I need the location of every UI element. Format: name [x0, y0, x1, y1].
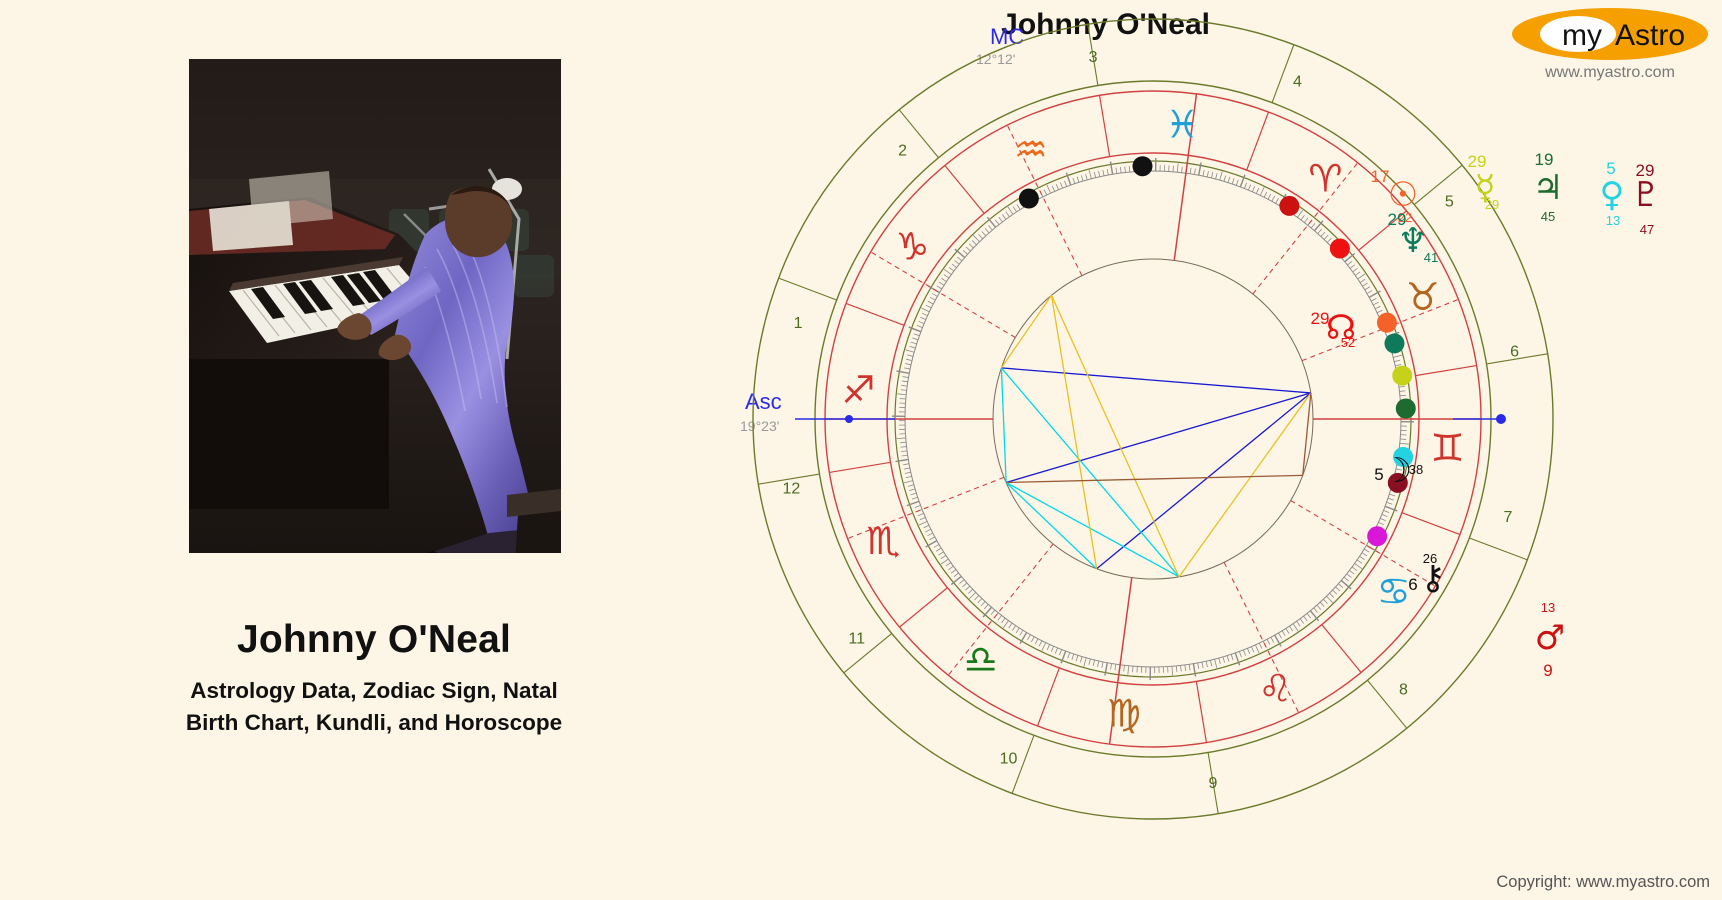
planet-degree-venus: 5 [1606, 159, 1615, 178]
sign-glyph-pisces[interactable]: ♓ [1165, 102, 1199, 146]
planet-minute-neptune: 41 [1424, 250, 1438, 265]
sign-glyph-cancer[interactable]: ♋ [1377, 569, 1411, 613]
sign-glyph-libra[interactable]: ♎ [964, 638, 998, 682]
planet-degree-mercury: 29 [1468, 152, 1487, 171]
planet-minute-pluto: 47 [1640, 222, 1654, 237]
planet-minute-chiron: 26 [1423, 551, 1437, 566]
house-number-3: 3 [1089, 49, 1098, 66]
planet-glyph-jupiter: ♃ [1533, 168, 1563, 208]
planet-minute-mars: 13 [1541, 600, 1555, 615]
planet-minute-venus: 13 [1606, 213, 1620, 228]
page-subtitle: Astrology Data, Zodiac Sign, Natal Birth… [0, 675, 748, 739]
astrology-profile-page: Johnny O'Neal Astrology Data, Zodiac Sig… [0, 0, 1722, 900]
sign-glyph-leo[interactable]: ♌ [1258, 667, 1292, 711]
portrait-photo [189, 59, 561, 553]
planet-moon[interactable]: ☽538 [1019, 189, 1423, 491]
house-number-9: 9 [1209, 775, 1218, 792]
planet-glyph-pluto: ♇ [1631, 175, 1661, 215]
planet-degree-pluto: 29 [1636, 161, 1655, 180]
aspect-lines [1001, 295, 1310, 577]
profile-panel: Johnny O'Neal Astrology Data, Zodiac Sig… [0, 0, 748, 900]
planet-degree-sun: 17 [1371, 167, 1390, 186]
house-number-1: 1 [794, 315, 803, 332]
sign-glyph-taurus[interactable]: ♉ [1406, 275, 1440, 319]
planet-minute-moon: 38 [1409, 462, 1423, 477]
sign-glyph-virgo[interactable]: ♍ [1107, 692, 1141, 736]
portrait-image [189, 59, 561, 553]
sign-glyph-capricorn[interactable]: ♑ [895, 225, 929, 269]
sign-glyph-aries[interactable]: ♈ [1308, 156, 1342, 200]
sign-glyph-scorpio[interactable]: ♏ [866, 519, 900, 563]
planet-degree-moon: 5 [1374, 465, 1383, 484]
house-number-2: 2 [898, 142, 907, 159]
planet-degree-jupiter: 19 [1535, 150, 1554, 169]
planet-minute-mercury: 29 [1485, 197, 1499, 212]
page-title: Johnny O'Neal [0, 618, 748, 662]
planet-minute-node: 52 [1341, 335, 1355, 350]
house-number-11: 11 [848, 630, 865, 647]
planet-uranus[interactable]: ♅631 [1367, 215, 1680, 546]
house-cusp-lines [825, 94, 1481, 744]
sign-glyph-sagittarius[interactable]: ♐ [841, 368, 875, 412]
house-number-6: 6 [1510, 344, 1519, 361]
planet-minute-jupiter: 45 [1541, 209, 1555, 224]
house-number-4: 4 [1293, 74, 1302, 91]
planet-degree-node: 29 [1311, 309, 1330, 328]
sign-glyph-gemini[interactable]: ♊ [1431, 426, 1465, 470]
house-number-10: 10 [1000, 750, 1018, 767]
house-number-12: 12 [782, 480, 800, 497]
planet-degree-neptune: 29 [1388, 210, 1407, 229]
planet-degree-chiron: 6 [1408, 575, 1417, 594]
house-numbers: 123456789101112 [782, 49, 1519, 792]
subtitle-line-2: Birth Chart, Kundli, and Horoscope [0, 707, 748, 739]
planet-glyph-sun: ☉ [1388, 175, 1418, 215]
zodiac-wheel[interactable]: ♈♉♊♋♌♍♎♏♐♑♒♓ 123456789101112 ☉1722☿2929♃… [740, 0, 1680, 894]
house-number-5: 5 [1445, 194, 1454, 211]
house-number-8: 8 [1399, 682, 1408, 699]
planet-glyph-venus: ♀ [1600, 175, 1625, 215]
planet-degree-mars: 9 [1543, 661, 1552, 680]
sign-glyph-aquarius[interactable]: ♒ [1014, 127, 1048, 171]
house-number-7: 7 [1503, 509, 1512, 526]
natal-chart[interactable]: Johnny O'Neal MC 12°12' Asc 19°23' ♈♉♊♋♌… [740, 0, 1680, 894]
planet-glyph-moon: ☽ [1382, 451, 1412, 491]
planet-glyph-mars: ♂ [1535, 618, 1565, 658]
planet-node[interactable]: ☊2952 [1311, 238, 1357, 350]
planet-markers[interactable]: ☉1722☿2929♃1945♀513♇2947♅631♆2941☊2952☽5… [1019, 150, 1680, 680]
subtitle-line-1: Astrology Data, Zodiac Sign, Natal [0, 675, 748, 707]
